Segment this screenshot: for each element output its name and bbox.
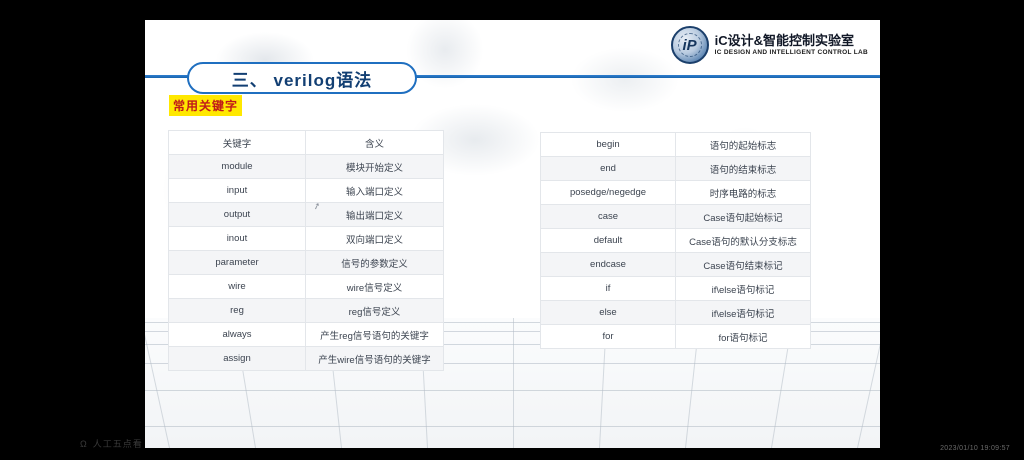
table-row: posedge/negedge时序电路的标志 [541,181,811,205]
keyword-cell: always [169,323,306,347]
grid-line-horizontal [145,426,880,427]
presentation-slide: 三、 verilog语法 iP iC设计&智能控制实验室 IC DESIGN A… [145,20,880,448]
table-row: endcaseCase语句结束标记 [541,253,811,277]
meaning-cell: Case语句的默认分支标志 [676,229,811,253]
watermark-icon: Ω [80,439,88,449]
keyword-cell: end [541,157,676,181]
keyword-cell: for [541,325,676,349]
grid-line-horizontal [145,390,880,391]
lab-name-cn: iC设计&智能控制实验室 [715,34,868,49]
table-row: always产生reg信号语句的关键字 [169,323,444,347]
meaning-cell: if\else语句标记 [676,301,811,325]
meaning-cell: 产生reg信号语句的关键字 [306,323,444,347]
keyword-cell: default [541,229,676,253]
keyword-cell: if [541,277,676,301]
table-row: forfor语句标记 [541,325,811,349]
column-header: 含义 [306,131,444,155]
logo-monogram: iP [673,28,707,62]
table-row: end语句的结束标志 [541,157,811,181]
table-row: begin语句的起始标志 [541,133,811,157]
keyword-cell: begin [541,133,676,157]
table-row: input输入端口定义 [169,179,444,203]
table-row: elseif\else语句标记 [541,301,811,325]
video-player-screen: 三、 verilog语法 iP iC设计&智能控制实验室 IC DESIGN A… [0,0,1024,460]
keyword-cell: assign [169,347,306,371]
meaning-cell: 语句的起始标志 [676,133,811,157]
grid-line-vertical [513,318,514,448]
stray-cursor-mark: ➚ [312,201,321,211]
keyword-table-left: 关键字含义module模块开始定义input输入端口定义output输出端口定义… [168,130,444,371]
meaning-cell: if\else语句标记 [676,277,811,301]
lab-name-en: IC DESIGN AND INTELLIGENT CONTROL LAB [715,49,868,56]
meaning-cell: 输入端口定义 [306,179,444,203]
watermark-text: 人工五点看 [93,437,143,450]
meaning-cell: 时序电路的标志 [676,181,811,205]
meaning-cell: 双向端口定义 [306,227,444,251]
page-title: 三、 verilog语法 [232,66,372,91]
meaning-cell: for语句标记 [676,325,811,349]
table-header-row: 关键字含义 [169,131,444,155]
table-row: parameter信号的参数定义 [169,251,444,275]
meaning-cell: Case语句起始标记 [676,205,811,229]
lab-logo-icon: iP [671,26,709,64]
table-row: output输出端口定义 [169,203,444,227]
recording-timestamp: 2023/01/10 19:09:57 [940,445,1010,452]
keyword-cell: else [541,301,676,325]
meaning-cell: 语句的结束标志 [676,157,811,181]
lab-logo: iP iC设计&智能控制实验室 IC DESIGN AND INTELLIGEN… [671,26,868,64]
meaning-cell: Case语句结束标记 [676,253,811,277]
meaning-cell: reg信号定义 [306,299,444,323]
keyword-cell: module [169,155,306,179]
keyword-cell: output [169,203,306,227]
section-subtitle: 常用关键字 [169,95,242,116]
table-row: inout双向端口定义 [169,227,444,251]
keyword-cell: endcase [541,253,676,277]
meaning-cell: wire信号定义 [306,275,444,299]
column-header: 关键字 [169,131,306,155]
keyword-cell: input [169,179,306,203]
grid-line-vertical [145,321,169,448]
keyword-cell: case [541,205,676,229]
grid-line-vertical [857,321,880,448]
table-row: regreg信号定义 [169,299,444,323]
table-row: wirewire信号定义 [169,275,444,299]
slide-title-pill: 三、 verilog语法 [187,62,417,94]
keyword-cell: wire [169,275,306,299]
keyword-cell: inout [169,227,306,251]
meaning-cell: 输出端口定义 [306,203,444,227]
table-row: module模块开始定义 [169,155,444,179]
keyword-table-right: begin语句的起始标志end语句的结束标志posedge/negedge时序电… [540,132,811,349]
keyword-cell: parameter [169,251,306,275]
meaning-cell: 信号的参数定义 [306,251,444,275]
keyword-cell: posedge/negedge [541,181,676,205]
table-row: caseCase语句起始标记 [541,205,811,229]
table-row: assign产生wire信号语句的关键字 [169,347,444,371]
table-row: ifif\else语句标记 [541,277,811,301]
table-row: defaultCase语句的默认分支标志 [541,229,811,253]
keyword-cell: reg [169,299,306,323]
player-watermark: Ω 人工五点看 [80,437,143,450]
meaning-cell: 模块开始定义 [306,155,444,179]
meaning-cell: 产生wire信号语句的关键字 [306,347,444,371]
